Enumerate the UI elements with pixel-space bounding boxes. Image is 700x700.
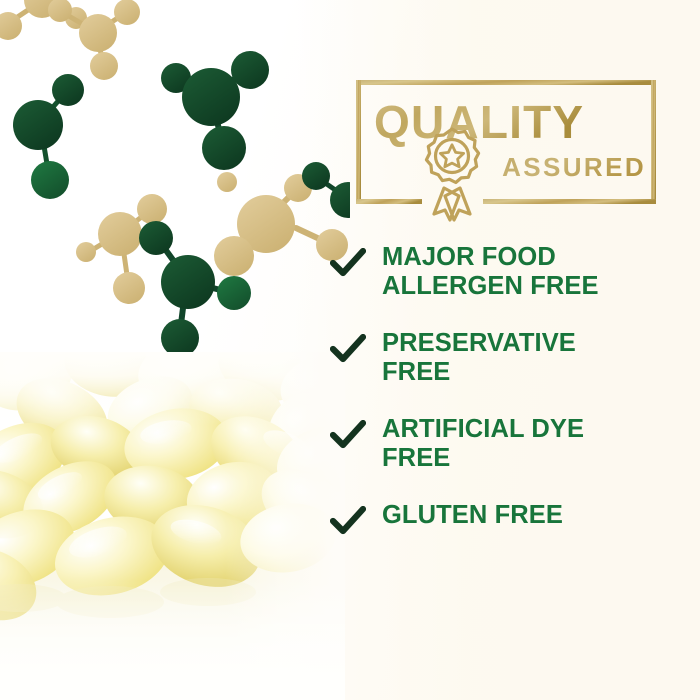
benefit-label: GLUTEN FREE: [382, 501, 698, 530]
emblem-title-text: QUALITY: [374, 96, 584, 148]
capsule-photo-bottom-fade: [0, 580, 345, 700]
benefit-label: PRESERVATIVE FREE: [382, 329, 698, 387]
softgel-capsule-photo: [0, 352, 345, 700]
product-benefits-banner: QUALITY ASSURED: [0, 0, 700, 700]
checkmark-icon: [330, 243, 382, 278]
benefit-label: MAJOR FOOD ALLERGEN FREE: [382, 243, 698, 301]
checkmark-icon: [330, 329, 382, 364]
quality-assured-seal: QUALITY ASSURED: [352, 72, 660, 224]
benefit-item-gluten-free: GLUTEN FREE: [330, 501, 698, 536]
checkmark-icon: [330, 501, 382, 536]
emblem-subtitle-text: ASSURED: [502, 152, 646, 182]
benefit-item-major-food-allergen-free: MAJOR FOOD ALLERGEN FREE: [330, 243, 698, 301]
benefit-item-preservative-free: PRESERVATIVE FREE: [330, 329, 698, 387]
checkmark-icon: [330, 415, 382, 450]
benefit-item-artificial-dye-free: ARTIFICIAL DYE FREE: [330, 415, 698, 473]
benefit-label: ARTIFICIAL DYE FREE: [382, 415, 698, 473]
benefits-list: MAJOR FOOD ALLERGEN FREE PRESERVATIVE FR…: [330, 243, 698, 536]
